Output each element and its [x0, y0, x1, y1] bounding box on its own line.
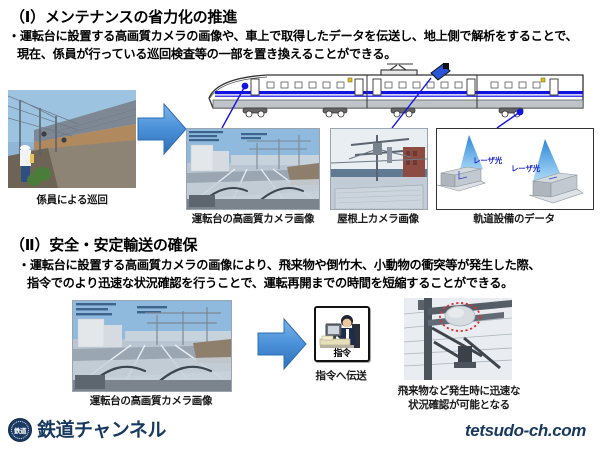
- footer: 鉄道 鉄道チャンネル tetsudo-ch.com: [0, 410, 600, 451]
- laser-label-right: レーザ光: [511, 163, 540, 174]
- photo-employee-inspection: [8, 90, 136, 188]
- photo-cab-camera-2: [72, 300, 232, 392]
- brand-name: 鉄道チャンネル: [37, 421, 166, 440]
- section1-body-line1: ・運転台に設置する高画質カメラの画像や、車上で取得したデータを伝送し、地上側で解…: [8, 29, 577, 43]
- caption-cab-camera-2: 運転台の高画質カメラ画像: [62, 393, 240, 408]
- photo-roof-camera: [330, 128, 428, 210]
- shinkansen-illustration: [205, 62, 590, 124]
- section1-body-line2: 現在、係員が行っている巡回検査等の一部を置き換えることができる。: [8, 46, 594, 64]
- caption-cab-camera-1: 運転台の高画質カメラ画像: [180, 211, 326, 226]
- laser-label-left: レーザ光: [473, 155, 502, 166]
- section2-body-line2: 指令でのより迅速な状況確認を行うことで、運転再開までの時間を短縮することができる…: [18, 275, 594, 293]
- caption-employee-inspection: 係員による巡回: [8, 192, 136, 207]
- panel-track-data: レーザ光 レーザ光: [436, 128, 594, 210]
- section2-body: ・運転台に設置する高画質カメラの画像により、飛来物や倒竹木、小動物の衝突等が発生…: [18, 257, 594, 292]
- caption-flying-object-line1: 飛来物など発生時に迅速な: [398, 385, 520, 397]
- right-arrow-icon: [136, 100, 188, 158]
- caption-roof-camera: 屋根上カメラ画像: [328, 211, 428, 226]
- caption-flying-object: 飛来物など発生時に迅速な 状況確認が可能となる: [396, 384, 522, 412]
- brand-logo[interactable]: 鉄道 鉄道チャンネル: [8, 418, 166, 442]
- brand-mark-text: 鉄道: [14, 425, 26, 435]
- photo-flying-object: [404, 298, 512, 380]
- command-icon-label: 指令: [316, 346, 368, 359]
- section2-body-line1: ・運転台に設置する高画質カメラの画像により、飛来物や倒竹木、小動物の衝突等が発生…: [18, 258, 540, 272]
- caption-command-transfer: 指令へ伝送: [300, 368, 382, 383]
- slide-root: （Ⅰ）メンテナンスの省力化の推進 ・運転台に設置する高画質カメラの画像や、車上で…: [0, 0, 600, 451]
- site-url[interactable]: tetsudo-ch.com: [465, 421, 586, 441]
- footer-divider: [0, 410, 600, 411]
- right-arrow-icon-2: [256, 315, 308, 373]
- command-center-icon: 指令: [314, 306, 370, 362]
- caption-track-data: 軌道設備のデータ: [436, 211, 592, 226]
- section1-title: （Ⅰ）メンテナンスの省力化の推進: [10, 6, 237, 27]
- railway-seal-icon: 鉄道: [8, 418, 32, 442]
- photo-cab-camera-1: [186, 128, 320, 210]
- section1-body: ・運転台に設置する高画質カメラの画像や、車上で取得したデータを伝送し、地上側で解…: [8, 28, 594, 63]
- section2-title: （Ⅱ）安全・安定輸送の確保: [10, 234, 197, 255]
